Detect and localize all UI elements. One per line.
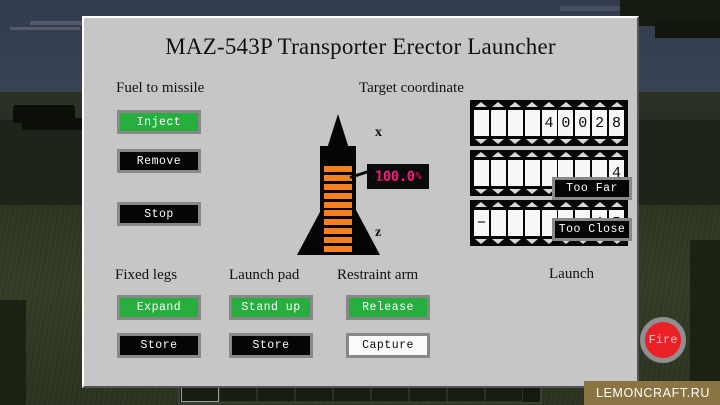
too-far-button[interactable]: Too Far — [552, 177, 632, 200]
tel-control-panel: MAZ-543P Transporter Erector Launcher Fu… — [82, 16, 639, 388]
chevron-down-icon[interactable] — [492, 139, 504, 144]
target-section-label: Target coordinate — [359, 80, 464, 97]
chevron-down-icon[interactable] — [475, 239, 487, 244]
coord-digit-column[interactable] — [490, 102, 506, 144]
chevron-up-icon[interactable] — [577, 152, 589, 157]
fuel-bar-segment — [324, 210, 352, 216]
cloud — [10, 27, 80, 30]
chevron-down-icon[interactable] — [594, 139, 606, 144]
coord-digit-cell[interactable] — [525, 110, 540, 136]
coord-digit-cell[interactable] — [491, 160, 506, 186]
cloud — [30, 21, 82, 25]
chevron-down-icon[interactable] — [475, 189, 487, 194]
watermark: LEMONCRAFT.RU — [584, 381, 720, 405]
chevron-up-icon[interactable] — [560, 152, 572, 157]
missile-fin-left — [297, 210, 321, 255]
chevron-up-icon[interactable] — [543, 202, 555, 207]
fuel-bar-segment — [324, 237, 352, 243]
chevron-up-icon[interactable] — [509, 202, 521, 207]
fuel-bar-segment — [324, 184, 352, 190]
fuel-section-label: Fuel to missile — [116, 80, 204, 97]
chevron-down-icon[interactable] — [526, 239, 538, 244]
chevron-up-icon[interactable] — [611, 102, 623, 107]
launch-pad-label: Launch pad — [229, 267, 299, 284]
chevron-down-icon[interactable] — [577, 139, 589, 144]
coord-digit-column[interactable] — [490, 202, 506, 244]
chevron-down-icon[interactable] — [509, 239, 521, 244]
chevron-up-icon[interactable] — [475, 102, 487, 107]
coord-digit-cell[interactable] — [491, 210, 506, 236]
tree-silhouette — [655, 22, 720, 38]
coord-digit-column[interactable] — [507, 152, 523, 194]
chevron-up-icon[interactable] — [526, 202, 538, 207]
fuel-bar-segment — [324, 228, 352, 234]
coord-digit-cell[interactable]: 0 — [575, 110, 590, 136]
restraint-arm-label: Restraint arm — [337, 267, 418, 284]
arm-capture-button[interactable]: Capture — [346, 333, 430, 358]
fixed-legs-label: Fixed legs — [115, 267, 177, 284]
fuel-bar-segment — [324, 166, 352, 172]
chevron-up-icon[interactable] — [492, 152, 504, 157]
chevron-up-icon[interactable] — [526, 152, 538, 157]
tree-silhouette — [22, 118, 88, 130]
fuel-inject-button[interactable]: Inject — [117, 110, 201, 134]
coord-digit-cell[interactable]: 0 — [558, 110, 573, 136]
chevron-up-icon[interactable] — [577, 102, 589, 107]
coord-digit-column[interactable] — [524, 102, 540, 144]
chevron-up-icon[interactable] — [526, 102, 538, 107]
coord-digit-column[interactable] — [507, 202, 523, 244]
arm-release-button[interactable]: Release — [346, 295, 430, 320]
coord-digit-column[interactable] — [474, 102, 490, 144]
coord-digit-column[interactable]: 4 — [541, 102, 557, 144]
coordinate-spinner-row-x[interactable]: 40028 — [470, 100, 628, 146]
chevron-up-icon[interactable] — [594, 202, 606, 207]
chevron-up-icon[interactable] — [594, 152, 606, 157]
coord-digit-cell[interactable]: 4 — [542, 110, 557, 136]
coord-digit-cell[interactable]: − — [474, 210, 489, 236]
fuel-level-bars — [324, 166, 352, 252]
coord-digit-cell[interactable] — [525, 210, 540, 236]
coord-digit-column[interactable] — [474, 152, 490, 194]
page-title: MAZ-543P Transporter Erector Launcher — [84, 34, 637, 60]
chevron-down-icon[interactable] — [492, 239, 504, 244]
coord-axis-label-x: x — [375, 125, 382, 141]
tree-silhouette — [0, 300, 26, 405]
coord-axis-label-y: y — [375, 175, 382, 191]
chevron-up-icon[interactable] — [543, 152, 555, 157]
chevron-up-icon[interactable] — [475, 152, 487, 157]
coord-digit-cell[interactable] — [474, 110, 489, 136]
chevron-down-icon[interactable] — [475, 139, 487, 144]
coord-digit-cell[interactable] — [508, 210, 523, 236]
coord-digit-cell[interactable] — [508, 160, 523, 186]
chevron-up-icon[interactable] — [543, 102, 555, 107]
coord-digit-column[interactable]: 8 — [609, 102, 625, 144]
coord-digit-column[interactable] — [490, 152, 506, 194]
fuel-bar-segment — [324, 175, 352, 181]
fuel-bar-segment — [324, 202, 352, 208]
coord-axis-label-z: z — [375, 225, 381, 241]
coord-digit-cell[interactable] — [525, 160, 540, 186]
chevron-down-icon[interactable] — [509, 189, 521, 194]
chevron-up-icon[interactable] — [611, 152, 623, 157]
launch-section-label: Launch — [549, 266, 594, 283]
legs-store-button[interactable]: Store — [117, 333, 201, 358]
fuel-stop-button[interactable]: Stop — [117, 202, 201, 226]
pad-store-button[interactable]: Store — [229, 333, 313, 358]
coord-digit-cell[interactable]: 2 — [592, 110, 607, 136]
coord-digit-column[interactable]: 0 — [558, 102, 574, 144]
chevron-up-icon[interactable] — [475, 202, 487, 207]
chevron-up-icon[interactable] — [492, 202, 504, 207]
fuel-remove-button[interactable]: Remove — [117, 149, 201, 173]
fuel-bar-segment — [324, 193, 352, 199]
chevron-down-icon[interactable] — [543, 139, 555, 144]
chevron-up-icon[interactable] — [509, 152, 521, 157]
coord-digit-cell[interactable] — [474, 160, 489, 186]
coord-digit-column[interactable] — [524, 152, 540, 194]
coord-digit-column[interactable] — [507, 102, 523, 144]
legs-expand-button[interactable]: Expand — [117, 295, 201, 320]
pad-standup-button[interactable]: Stand up — [229, 295, 313, 320]
chevron-up-icon[interactable] — [492, 102, 504, 107]
coord-digit-cell[interactable]: 8 — [609, 110, 624, 136]
chevron-down-icon[interactable] — [509, 139, 521, 144]
fuel-bar-segment — [324, 246, 352, 252]
chevron-up-icon[interactable] — [560, 102, 572, 107]
chevron-down-icon[interactable] — [611, 139, 623, 144]
chevron-up-icon[interactable] — [509, 102, 521, 107]
coord-digit-column[interactable]: − — [474, 202, 490, 244]
chevron-down-icon[interactable] — [560, 139, 572, 144]
coord-digit-cell[interactable] — [508, 110, 523, 136]
chevron-up-icon[interactable] — [577, 202, 589, 207]
fuel-bar-segment — [324, 219, 352, 225]
chevron-up-icon[interactable] — [611, 202, 623, 207]
coord-digit-column[interactable]: 0 — [575, 102, 591, 144]
coord-digit-column[interactable] — [524, 202, 540, 244]
fire-button[interactable]: Fire — [640, 317, 686, 363]
chevron-down-icon[interactable] — [526, 189, 538, 194]
chevron-down-icon[interactable] — [526, 139, 538, 144]
percent-sign: % — [416, 171, 422, 182]
coord-digit-cell[interactable] — [491, 110, 506, 136]
chevron-up-icon[interactable] — [594, 102, 606, 107]
chevron-down-icon[interactable] — [492, 189, 504, 194]
coord-digit-column[interactable]: 2 — [592, 102, 608, 144]
chevron-up-icon[interactable] — [560, 202, 572, 207]
too-close-button[interactable]: Too Close — [552, 218, 632, 241]
